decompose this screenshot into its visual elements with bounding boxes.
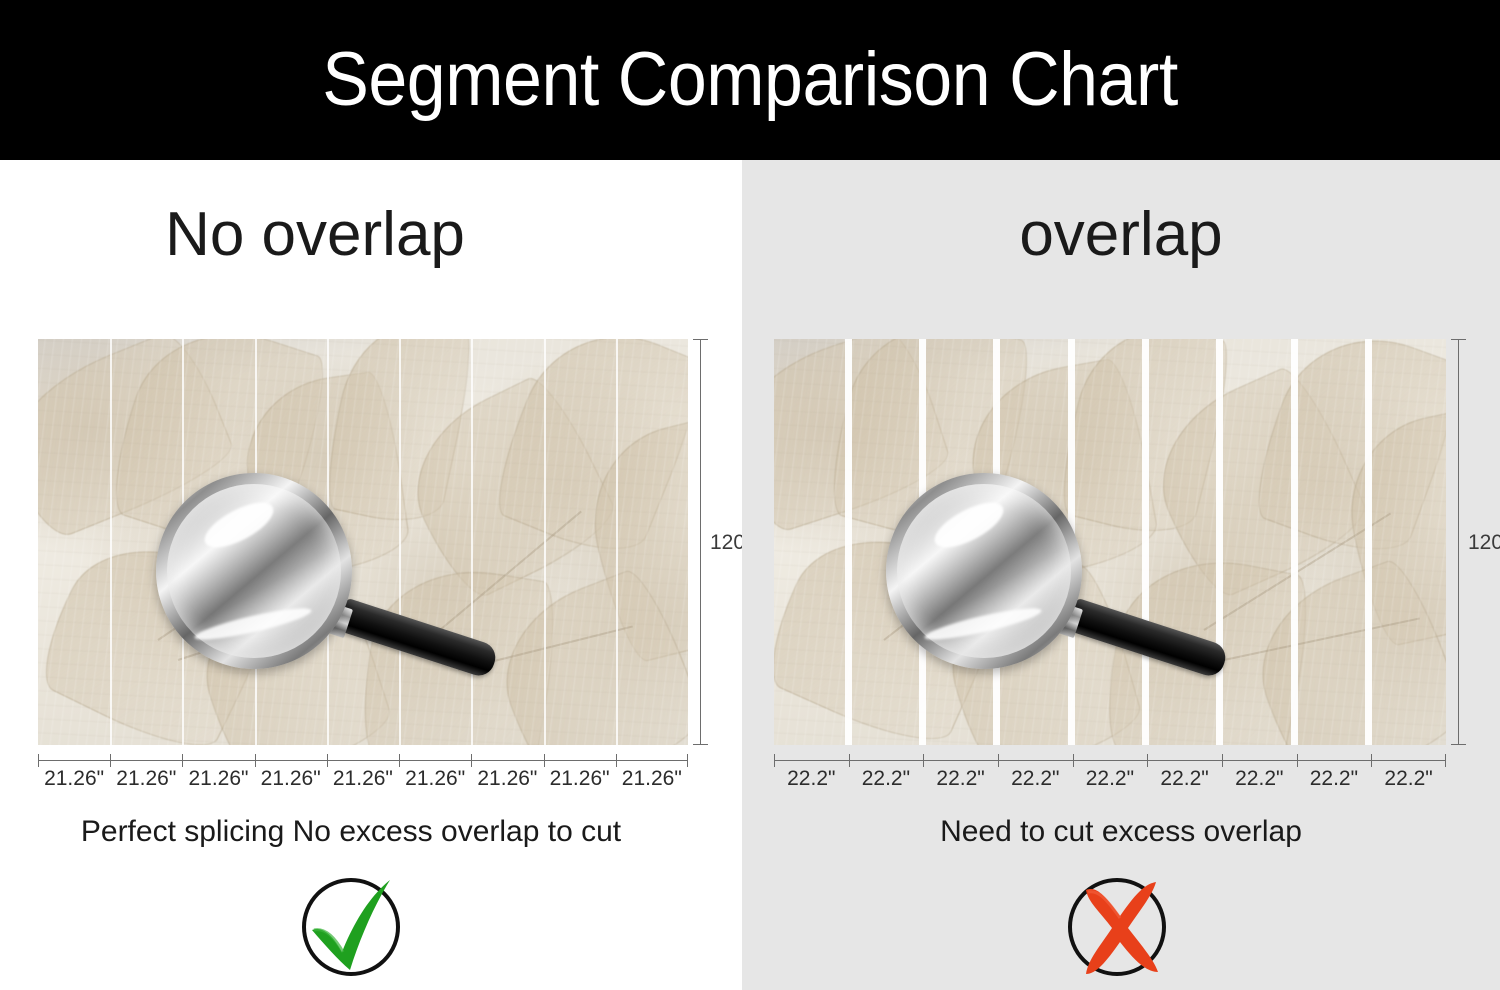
ruler-tick <box>38 754 39 767</box>
dimension-cap <box>1451 339 1466 340</box>
panel-heading-no-overlap: No overlap <box>0 204 686 266</box>
check-mark <box>296 872 414 990</box>
ruler-line <box>38 760 688 761</box>
ruler-tick <box>1073 754 1074 767</box>
dimension-cap <box>1451 744 1466 745</box>
segment-label: 22.2" <box>1297 767 1372 791</box>
segment-label: 22.2" <box>849 767 924 791</box>
segment-label: 21.26" <box>544 767 616 791</box>
ruler-tick <box>1297 754 1298 767</box>
ruler-tick <box>1445 754 1446 767</box>
segment-comparison-chart: Segment Comparison Chart No overlap <box>0 0 1500 990</box>
segment-label: 22.2" <box>774 767 849 791</box>
ruler-tick <box>616 754 617 767</box>
segment-label: 22.2" <box>1371 767 1446 791</box>
segment-label: 21.26" <box>38 767 110 791</box>
ruler-tick <box>255 754 256 767</box>
ruler-tick <box>1371 754 1372 767</box>
mural-artwork <box>774 339 1446 745</box>
ruler-tick <box>774 754 775 767</box>
mural-no-overlap <box>38 339 688 745</box>
ruler-line <box>774 760 1446 761</box>
ruler-tick <box>1147 754 1148 767</box>
ruler-tick <box>182 754 183 767</box>
ruler-tick <box>687 754 688 767</box>
mural-artwork <box>38 339 688 745</box>
segment-label: 21.26" <box>399 767 471 791</box>
title-bar: Segment Comparison Chart <box>0 0 1500 160</box>
segment-label: 22.2" <box>1073 767 1148 791</box>
caption-no-overlap: Perfect splicing No excess overlap to cu… <box>0 815 722 849</box>
cross-mark <box>1062 872 1180 990</box>
segment-label: 22.2" <box>1222 767 1297 791</box>
dimension-cap <box>693 339 708 340</box>
height-dimension-line <box>1458 339 1459 745</box>
panel-heading-overlap: overlap <box>742 204 1500 266</box>
ruler-tick <box>998 754 999 767</box>
ruler-tick <box>399 754 400 767</box>
segment-label: 21.26" <box>471 767 543 791</box>
dimension-cap <box>693 744 708 745</box>
segment-label: 22.2" <box>923 767 998 791</box>
ruler-tick <box>849 754 850 767</box>
height-label: 120" <box>1468 531 1500 555</box>
mural-overlap <box>774 339 1446 745</box>
segment-label: 21.26" <box>616 767 688 791</box>
segment-label: 21.26" <box>182 767 254 791</box>
panel-overlap: overlap <box>742 160 1500 990</box>
page-title: Segment Comparison Chart <box>322 42 1178 118</box>
ruler-tick <box>923 754 924 767</box>
ruler-tick <box>1222 754 1223 767</box>
ruler-tick <box>544 754 545 767</box>
ruler-tick <box>110 754 111 767</box>
height-dimension-line <box>700 339 701 745</box>
segment-label: 22.2" <box>998 767 1073 791</box>
segment-label: 21.26" <box>255 767 327 791</box>
comparison-body: No overlap <box>0 160 1500 990</box>
segment-label: 21.26" <box>327 767 399 791</box>
caption-overlap: Need to cut excess overlap <box>742 815 1500 849</box>
ruler-tick <box>327 754 328 767</box>
segment-label: 21.26" <box>110 767 182 791</box>
ruler-tick <box>471 754 472 767</box>
check-circle-icon <box>296 872 414 990</box>
segment-label: 22.2" <box>1147 767 1222 791</box>
panel-no-overlap: No overlap <box>0 160 742 990</box>
cross-circle-icon <box>1062 872 1180 990</box>
